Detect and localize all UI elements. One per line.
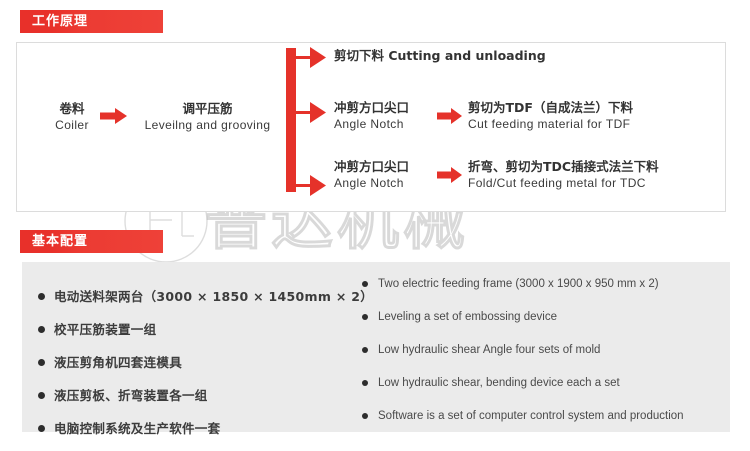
diagram-node-leveling: 调平压筋 Leveilng and grooving <box>130 100 285 134</box>
diagram-node-leveling-cn: 调平压筋 <box>130 100 285 117</box>
list-item-label: Two electric feeding frame (3000 x 1900 … <box>378 278 659 290</box>
bullet-icon <box>362 380 368 386</box>
diagram-node-tdf-en: Cut feeding material for TDF <box>468 116 718 133</box>
bullet-icon <box>38 293 45 300</box>
list-item: Low hydraulic shear, bending device each… <box>362 375 727 391</box>
list-item: 校平压筋装置一组 <box>38 321 368 338</box>
list-item-label: Low hydraulic shear Angle four sets of m… <box>378 344 600 356</box>
list-item: 液压剪板、折弯装置各一组 <box>38 387 368 404</box>
list-item: Leveling a set of embossing device <box>362 309 727 325</box>
arrow-coiler-to-leveling <box>100 108 128 124</box>
section-banner-configuration-label: 基本配置 <box>32 230 88 253</box>
diagram-node-cutting: 剪切下料 Cutting and unloading <box>334 47 664 64</box>
bullet-icon <box>362 314 368 320</box>
list-item: Two electric feeding frame (3000 x 1900 … <box>362 276 727 292</box>
list-item: 电脑控制系统及生产软件一套 <box>38 420 368 437</box>
diagram-node-angle-notch-2-cn: 冲剪方口尖口 <box>334 158 434 175</box>
basic-configuration-panel: 电动送料架两台（3000 × 1850 × 1450mm × 2） 校平压筋装置… <box>22 262 730 432</box>
list-item-label: 液压剪板、折弯装置各一组 <box>54 388 208 403</box>
diagram-node-angle-notch-1-en: Angle Notch <box>334 116 434 133</box>
configuration-list-en: Two electric feeding frame (3000 x 1900 … <box>362 276 727 424</box>
list-item-label: Software is a set of computer control sy… <box>378 410 684 422</box>
section-banner-principle-label: 工作原理 <box>32 10 88 33</box>
diagram-node-angle-notch-2-en: Angle Notch <box>334 175 434 192</box>
diagram-node-leveling-en: Leveilng and grooving <box>130 117 285 134</box>
diagram-node-tdf: 剪切为TDF（自成法兰）下料 Cut feeding material for … <box>468 99 718 133</box>
diagram-node-coiler-cn: 卷料 <box>42 100 102 117</box>
list-item-label: Low hydraulic shear, bending device each… <box>378 377 620 389</box>
diagram-node-tdc-cn: 折弯、剪切为TDC插接式法兰下料 <box>468 158 723 175</box>
bullet-icon <box>362 281 368 287</box>
bullet-icon <box>38 425 45 432</box>
diagram-node-angle-notch-1: 冲剪方口尖口 Angle Notch <box>334 99 434 133</box>
configuration-list-cn: 电动送料架两台（3000 × 1850 × 1450mm × 2） 校平压筋装置… <box>38 288 368 437</box>
list-item-label: 电动送料架两台（3000 × 1850 × 1450mm × 2） <box>54 289 373 304</box>
list-item-label: Leveling a set of embossing device <box>378 311 557 323</box>
diagram-node-coiler: 卷料 Coiler <box>42 100 102 134</box>
diagram-node-angle-notch-2: 冲剪方口尖口 Angle Notch <box>334 158 434 192</box>
list-item-label: 校平压筋装置一组 <box>54 322 156 337</box>
bullet-icon <box>38 392 45 399</box>
bullet-icon <box>362 347 368 353</box>
list-item: Software is a set of computer control sy… <box>362 408 727 424</box>
list-item-label: 电脑控制系统及生产软件一套 <box>54 421 220 436</box>
bullet-icon <box>362 413 368 419</box>
list-item: 液压剪角机四套连模具 <box>38 354 368 371</box>
diagram-node-tdf-cn: 剪切为TDF（自成法兰）下料 <box>468 99 718 116</box>
diagram-node-angle-notch-1-cn: 冲剪方口尖口 <box>334 99 434 116</box>
diagram-node-cutting-cn: 剪切下料 Cutting and unloading <box>334 47 664 64</box>
list-item-label: 液压剪角机四套连模具 <box>54 355 182 370</box>
list-item: 电动送料架两台（3000 × 1850 × 1450mm × 2） <box>38 288 368 305</box>
section-banner-principle: 工作原理 <box>20 10 163 33</box>
branch-bracket-icon <box>286 44 332 196</box>
list-item: Low hydraulic shear Angle four sets of m… <box>362 342 727 358</box>
section-banner-configuration: 基本配置 <box>20 230 163 253</box>
arrow-angle-notch-2-to-tdc <box>437 167 463 183</box>
arrow-angle-notch-1-to-tdf <box>437 108 463 124</box>
diagram-node-tdc-en: Fold/Cut feeding metal for TDC <box>468 175 723 192</box>
bullet-icon <box>38 326 45 333</box>
bullet-icon <box>38 359 45 366</box>
diagram-node-coiler-en: Coiler <box>42 117 102 134</box>
diagram-node-tdc: 折弯、剪切为TDC插接式法兰下料 Fold/Cut feeding metal … <box>468 158 723 192</box>
